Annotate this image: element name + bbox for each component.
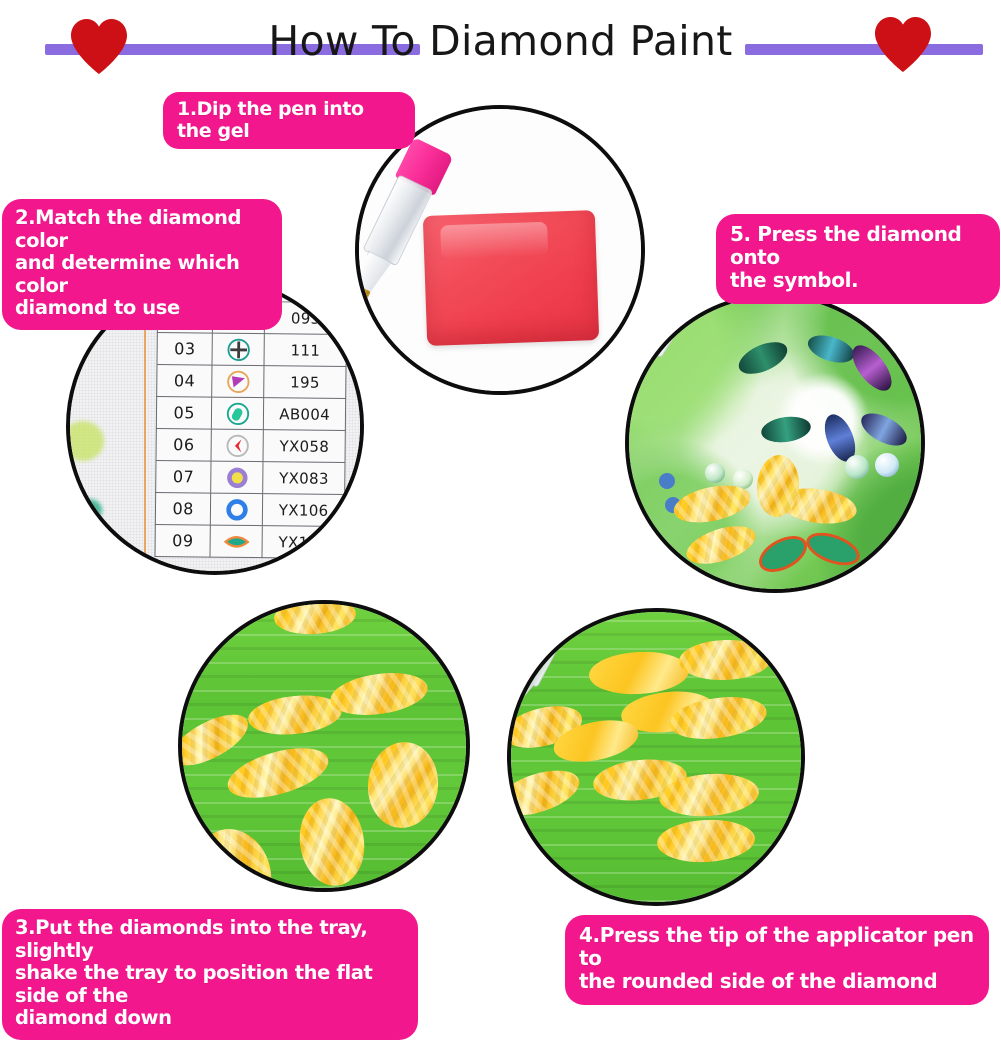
- color-chart-row-number: 05: [156, 397, 212, 430]
- step-2-label: 2.Match the diamond color and determine …: [2, 199, 282, 330]
- filled-ring-dot-icon: [211, 461, 263, 494]
- plus-cross-icon: [212, 333, 264, 366]
- color-chart-row-code: AB004: [264, 398, 346, 431]
- gel-pad: [423, 210, 599, 346]
- step-2-label-line-2: and determine which color: [15, 252, 269, 297]
- color-chart-row-number: 04: [157, 365, 213, 398]
- step-1-label: 1.Dip the pen into the gel: [163, 92, 415, 149]
- color-chart-row: 06YX058: [156, 429, 345, 463]
- color-chart-row-code: YX125: [262, 526, 344, 559]
- step-5-photo-mandala: [625, 293, 925, 593]
- header: How To Diamond Paint: [0, 0, 1001, 90]
- open-ring-icon: [211, 493, 263, 526]
- step-5-label-line-1: 5. Press the diamond onto: [730, 223, 986, 269]
- color-chart-row-code: YX106: [263, 494, 345, 527]
- left-chevron-icon: [211, 429, 263, 462]
- color-chart-row-code: YX058: [263, 430, 345, 463]
- step-5-label: 5. Press the diamond onto the symbol.: [716, 214, 1000, 304]
- color-chart-row-number: 03: [157, 333, 213, 366]
- color-chart-row-code: 195: [264, 366, 346, 399]
- color-chart-row: 03111: [157, 333, 346, 367]
- step-4-label: 4.Press the tip of the applicator pen to…: [565, 915, 989, 1005]
- infographic-canvas: How To Diamond Paint 1.Dip the pen into …: [0, 0, 1001, 1001]
- slanted-capsule-icon: [212, 397, 264, 430]
- step-4-photo-pen-pickup: [507, 608, 805, 906]
- color-chart-row: 04195: [157, 365, 346, 399]
- color-chart-row: 07YX083: [156, 461, 345, 495]
- step-4-label-line-1: 4.Press the tip of the applicator pen to: [579, 924, 975, 970]
- step-3-label-line-1: 3.Put the diamonds into the tray, slight…: [15, 917, 405, 962]
- step-3-photo-tray: [178, 600, 470, 892]
- step-2-label-line-3: diamond to use: [15, 297, 269, 320]
- step-4-label-line-2: the rounded side of the diamond: [579, 970, 975, 993]
- step-3-label: 3.Put the diamonds into the tray, slight…: [2, 909, 418, 1040]
- color-chart-row: 05AB004: [156, 397, 345, 431]
- step-2-label-line-1: 2.Match the diamond color: [15, 207, 269, 252]
- page-title: How To Diamond Paint: [0, 17, 1001, 65]
- color-chart-row-code: YX083: [263, 462, 345, 495]
- step-3-label-line-3: diamond down: [15, 1007, 405, 1030]
- color-chart-row-number: 06: [156, 429, 212, 462]
- color-chart-row: 09YX125: [155, 525, 344, 559]
- triangle-quarter-icon: [212, 365, 264, 398]
- color-chart-row-number: 07: [156, 461, 212, 494]
- leaf-lens-icon: [210, 525, 262, 558]
- color-chart-row-number: 08: [155, 493, 211, 526]
- step-5-label-line-2: the symbol.: [730, 269, 986, 292]
- pen-cap: [669, 293, 721, 295]
- color-chart-row-number: 09: [155, 525, 211, 558]
- color-chart-row-code: 111: [264, 334, 346, 367]
- color-chart-row: 08YX106: [155, 493, 344, 527]
